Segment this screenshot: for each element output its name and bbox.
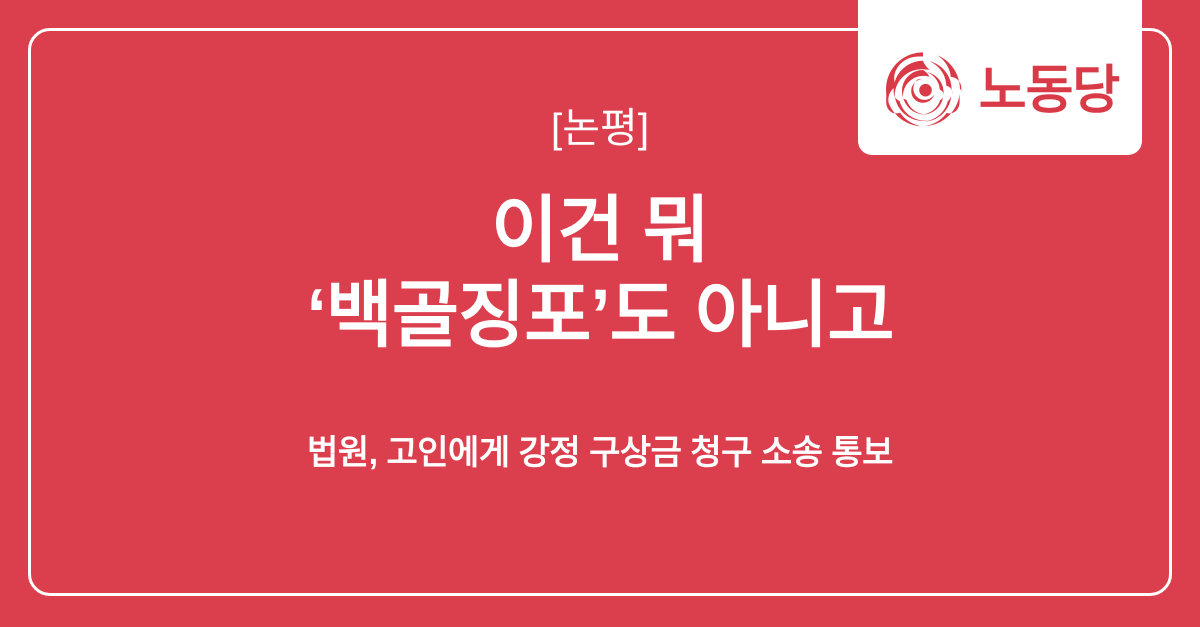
headline: 이건 뭐 ‘백골징포’도 아니고 (306, 189, 893, 358)
headline-line-1: 이건 뭐 (306, 189, 893, 274)
commentary-card: 노동당 [논평] 이건 뭐 ‘백골징포’도 아니고 법원, 고인에게 강정 구상… (0, 0, 1200, 627)
kicker-label: [논평] (551, 108, 649, 149)
card-content: [논평] 이건 뭐 ‘백골징포’도 아니고 법원, 고인에게 강정 구상금 청구… (28, 28, 1172, 596)
headline-line-2: ‘백골징포’도 아니고 (306, 274, 893, 359)
subheadline: 법원, 고인에게 강정 구상금 청구 소송 통보 (307, 436, 893, 470)
